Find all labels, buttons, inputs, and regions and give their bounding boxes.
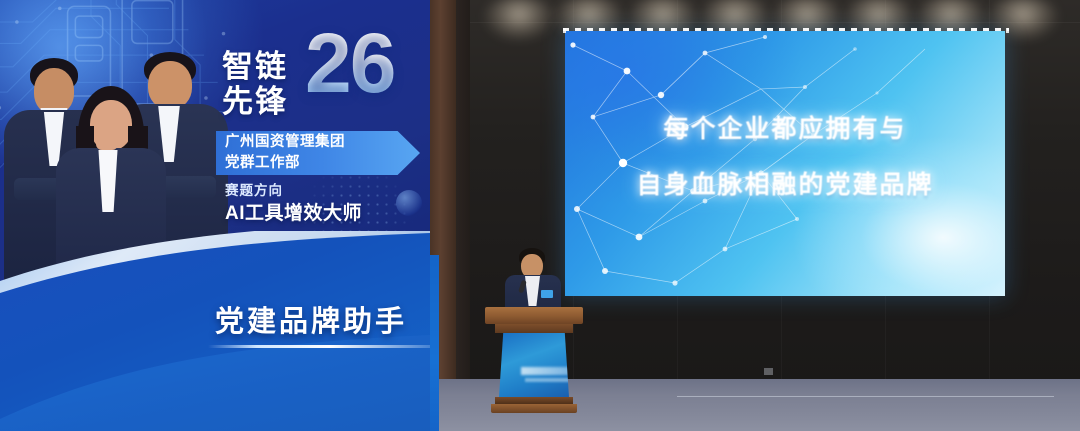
podium-top bbox=[485, 307, 583, 324]
floor-seam-line bbox=[677, 396, 1054, 397]
screen-led-trim-top bbox=[563, 28, 1009, 31]
screen-text-line-2: 自身血脉相融的党建品牌 bbox=[565, 165, 1005, 201]
network-graphic bbox=[565, 31, 1005, 296]
topic-value: AI工具增效大师 bbox=[225, 201, 362, 227]
brand-title-line2: 先锋 bbox=[222, 85, 318, 120]
wall-socket bbox=[764, 368, 773, 375]
entry-number: 26 bbox=[305, 24, 394, 104]
screen-text-line-1: 每个企业都应拥有与 bbox=[565, 109, 1005, 145]
screen-led-trim-right bbox=[1006, 28, 1009, 299]
brand-title: 智链 先锋 bbox=[222, 50, 318, 119]
podium-banner bbox=[499, 333, 569, 397]
podium-banner-title bbox=[521, 367, 575, 375]
poster-composite: 智链 先锋 26 广州国资管理集团 党群工作部 赛题方向 AI工具增效大师 bbox=[0, 0, 1080, 431]
podium-base-upper bbox=[495, 397, 573, 404]
project-title: 党建品牌助手 bbox=[215, 298, 407, 340]
podium bbox=[485, 307, 583, 413]
decorative-orb bbox=[396, 190, 422, 216]
left-promo-panel: 智链 先锋 26 广州国资管理集团 党群工作部 赛题方向 AI工具增效大师 bbox=[0, 0, 430, 431]
org-line-2: 党群工作部 bbox=[225, 153, 420, 174]
podium-base-lower bbox=[491, 404, 577, 413]
topic-block: 赛题方向 AI工具增效大师 bbox=[225, 181, 362, 227]
speaker-badge bbox=[541, 290, 553, 298]
podium-neck bbox=[495, 324, 573, 333]
podium-banner-subtitle bbox=[525, 378, 571, 382]
wall-column-dark bbox=[456, 0, 470, 385]
brand-title-line1: 智链 bbox=[222, 50, 318, 85]
screen-led-trim-left bbox=[563, 28, 566, 299]
topic-label: 赛题方向 bbox=[225, 181, 362, 201]
title-underline-bar bbox=[208, 345, 430, 348]
led-presentation-screen: 每个企业都应拥有与 自身血脉相融的党建品牌 bbox=[565, 31, 1005, 296]
organization-banner: 广州国资管理集团 党群工作部 bbox=[216, 131, 420, 175]
conference-photo-panel: 每个企业都应拥有与 自身血脉相融的党建品牌 bbox=[430, 0, 1080, 431]
org-line-1: 广州国资管理集团 bbox=[225, 132, 420, 153]
left-blue-edge-strip bbox=[430, 255, 439, 431]
